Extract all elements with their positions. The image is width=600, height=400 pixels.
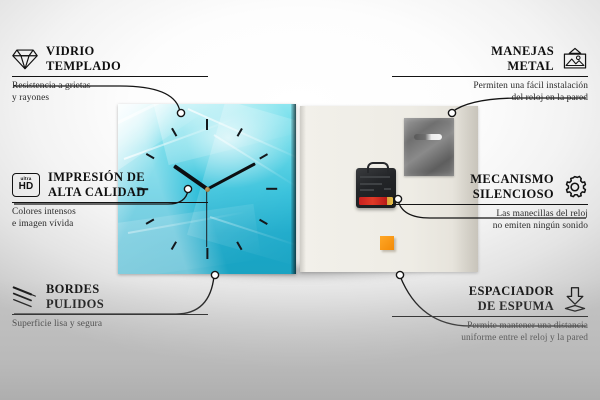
callout-impresion-alta-calidad: ultra HD IMPRESIÓN DE ALTA CALIDAD Color…: [12, 170, 208, 230]
gear-icon: [562, 174, 588, 200]
diamond-icon: [12, 46, 38, 72]
down-arrow-pad-icon: [562, 286, 588, 312]
back-panel-edge: [300, 106, 306, 272]
callout-subtitle-line2: del reloj en la pared: [392, 93, 588, 105]
clock-glass-edge: [291, 104, 296, 274]
callout-mecanismo-silencioso: MECANISMO SILENCIOSO Las manecillas del …: [392, 172, 588, 232]
ultra-hd-icon: ultra HD: [12, 173, 40, 197]
callout-divider: [12, 76, 208, 77]
callout-header: VIDRIO TEMPLADO: [12, 44, 208, 73]
quartz-mechanism-box: [356, 168, 396, 208]
callout-manejas-metal: MANEJAS METAL Permiten una fácil instala…: [392, 44, 588, 104]
callout-bordes-pulidos: BORDES PULIDOS Superficie lisa y segura: [12, 282, 208, 331]
callout-vidrio-templado: VIDRIO TEMPLADO Resistencia a grietas y …: [12, 44, 208, 104]
callout-header: BORDES PULIDOS: [12, 282, 208, 311]
callout-divider: [12, 202, 208, 203]
polished-edges-icon: [12, 284, 38, 310]
clock-tick: [146, 153, 155, 159]
callout-divider: [392, 76, 588, 77]
callout-subtitle-line1: Superficie lisa y segura: [12, 319, 208, 331]
callout-divider: [12, 314, 208, 315]
callout-title: IMPRESIÓN DE ALTA CALIDAD: [48, 170, 146, 199]
clock-tick: [266, 188, 277, 190]
infographic-canvas: VIDRIO TEMPLADO Resistencia a grietas y …: [0, 0, 600, 400]
callout-header: ultra HD IMPRESIÓN DE ALTA CALIDAD: [12, 170, 208, 199]
callout-subtitle-line2: no emiten ningún sonido: [392, 221, 588, 233]
callout-subtitle-line1: Permite mantener una distancia: [392, 321, 588, 333]
callout-header: MECANISMO SILENCIOSO: [392, 172, 588, 201]
callout-title: BORDES PULIDOS: [46, 282, 104, 311]
callout-subtitle-line2: uniforme entre el reloj y la pared: [392, 333, 588, 345]
callout-subtitle-line2: e imagen vívida: [12, 219, 208, 231]
hanging-frame-icon: [562, 46, 588, 72]
callout-espaciador-espuma: ESPACIADOR DE ESPUMA Permite mantener un…: [392, 284, 588, 344]
callout-header: ESPACIADOR DE ESPUMA: [392, 284, 588, 313]
callout-subtitle-line2: y rayones: [12, 93, 208, 105]
foam-spacer-pad: [380, 236, 394, 250]
mechanism-hook: [367, 162, 389, 173]
callout-header: MANEJAS METAL: [392, 44, 588, 73]
callout-subtitle-line1: Permiten una fácil instalación: [392, 81, 588, 93]
callout-divider: [392, 204, 588, 205]
callout-title: MECANISMO SILENCIOSO: [470, 172, 554, 201]
callout-subtitle-line1: Resistencia a grietas: [12, 81, 208, 93]
clock-tick: [206, 119, 208, 130]
metal-hanger-plate: [404, 118, 454, 176]
aa-battery: [359, 197, 393, 205]
callout-subtitle-line1: Colores intensos: [12, 207, 208, 219]
clock-tick: [206, 248, 208, 259]
callout-title: VIDRIO TEMPLADO: [46, 44, 121, 73]
hanger-slot: [414, 134, 442, 140]
callout-divider: [392, 316, 588, 317]
callout-title: MANEJAS METAL: [491, 44, 554, 73]
callout-subtitle-line1: Las manecillas del reloj: [392, 209, 588, 221]
callout-title: ESPACIADOR DE ESPUMA: [469, 284, 554, 313]
